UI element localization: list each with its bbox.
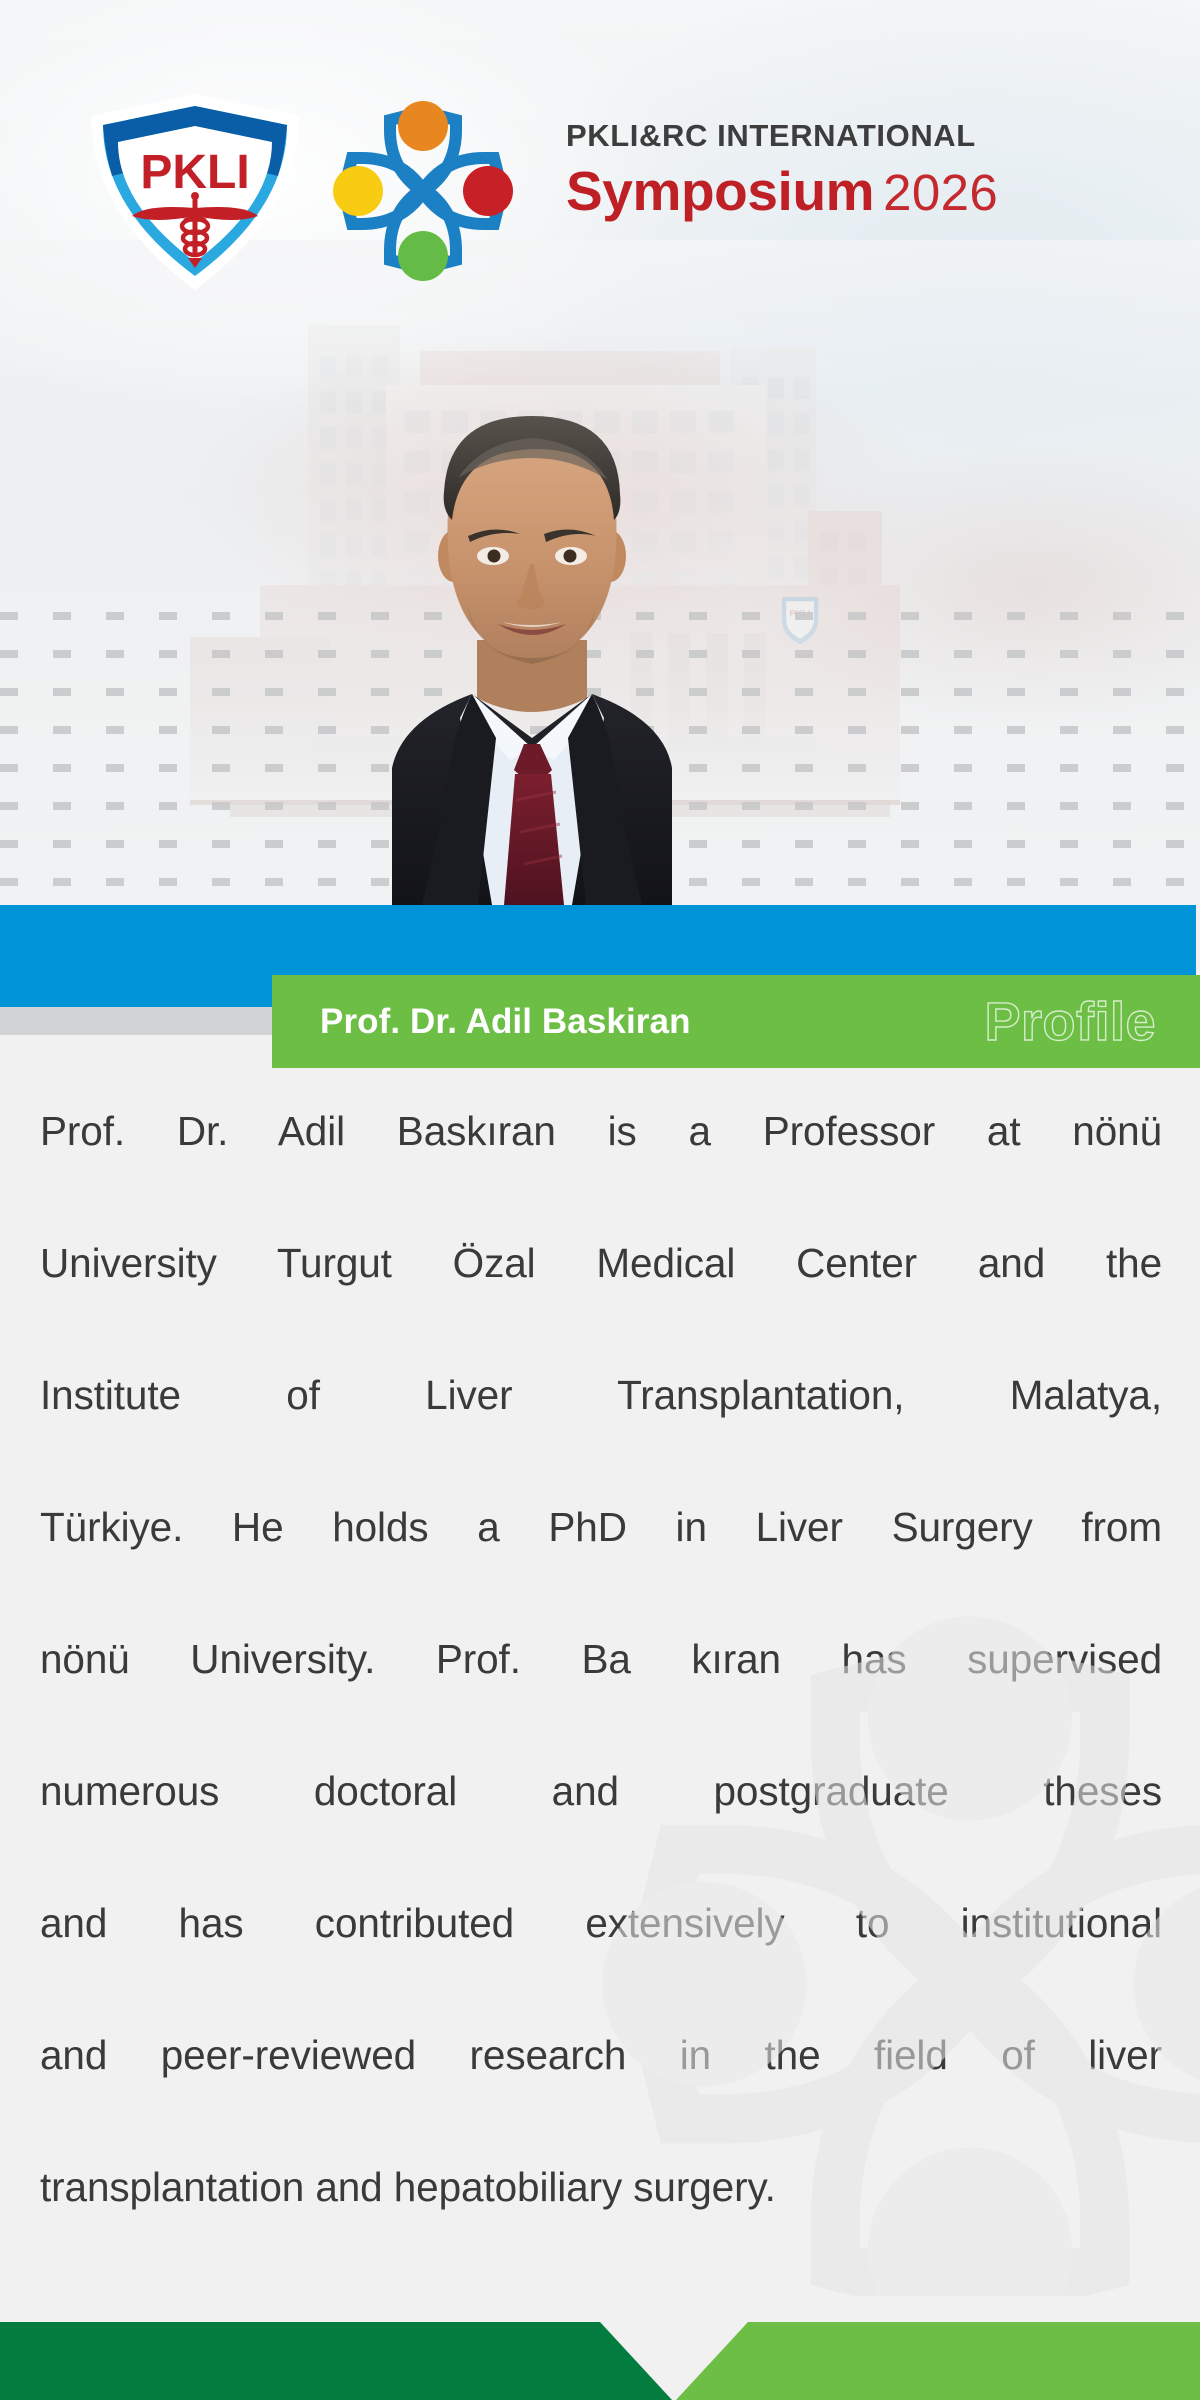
bio-line: and has contributed extensively to insti… (40, 1890, 1162, 2022)
event-title-symposium: Symposium (566, 160, 874, 222)
flower-dot-green (398, 231, 448, 281)
event-title-secondary: Symposium2026 (566, 164, 998, 219)
pkli-logo-text: PKLI (140, 146, 249, 199)
event-title-year: 2026 (883, 164, 998, 221)
speaker-profile-poster: PKLI (0, 0, 1200, 2400)
speaker-name-bar: Prof. Dr. Adil Baskiran Profile (272, 975, 1200, 1068)
section-label-profile: Profile (984, 991, 1156, 1053)
bio-line: Türkiye. He holds a PhD in Liver Surgery… (40, 1494, 1162, 1626)
bio-line: Institute of Liver Transplantation, Mala… (40, 1362, 1162, 1494)
flower-dot-red (463, 166, 513, 216)
speaker-portrait (272, 408, 792, 905)
flower-dot-yellow (333, 166, 383, 216)
speaker-name: Prof. Dr. Adil Baskiran (320, 1002, 691, 1042)
poster-footer (0, 2296, 1200, 2400)
footer-light-green (676, 2322, 1200, 2400)
symposium-flower-logo (330, 98, 516, 282)
footer-dark-green (0, 2322, 672, 2400)
bio-line: nönü University. Prof. Ba kıran has supe… (40, 1626, 1162, 1758)
bio-line: University Turgut Özal Medical Center an… (40, 1230, 1162, 1362)
bio-line: and peer-reviewed research in the field … (40, 2022, 1162, 2154)
bio-line: transplantation and hepatobiliary surger… (40, 2154, 1162, 2220)
event-title-primary: PKLI&RC INTERNATIONAL (566, 120, 998, 151)
bio-line: numerous doctoral and postgraduate these… (40, 1758, 1162, 1890)
speaker-bio: Prof. Dr. Adil Baskıran is a Professor a… (40, 1098, 1162, 2220)
pkli-shield-logo: PKLI (88, 92, 302, 292)
bio-line: Prof. Dr. Adil Baskıran is a Professor a… (40, 1098, 1162, 1230)
event-title-block: PKLI&RC INTERNATIONAL Symposium2026 (566, 120, 998, 219)
poster-header: PKLI (0, 0, 1200, 270)
flower-dot-orange (398, 101, 448, 151)
